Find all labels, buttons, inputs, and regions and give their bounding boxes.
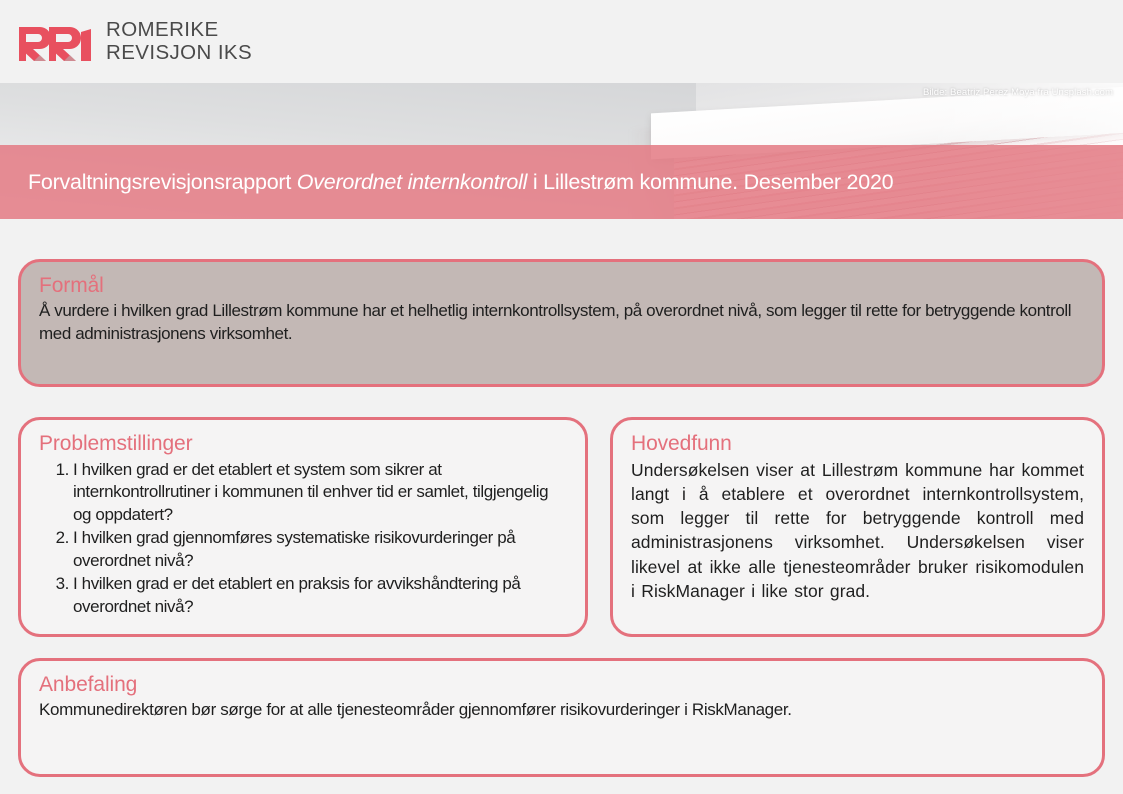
- report-title-band: Forvaltningsrevisjonsrapport Overordnet …: [0, 145, 1123, 219]
- card-problemstillinger-heading: Problemstillinger: [39, 432, 567, 456]
- list-item: I hvilken grad er det etablert et system…: [39, 459, 567, 526]
- card-hovedfunn-heading: Hovedfunn: [631, 432, 1084, 456]
- card-formaal-body: Å vurdere i hvilken grad Lillestrøm komm…: [39, 300, 1084, 345]
- logo-line-1: ROMERIKE: [106, 19, 252, 42]
- logo-wordmark: ROMERIKE REVISJON IKS: [106, 19, 252, 65]
- report-title-suffix: i Lillestrøm kommune. Desember 2020: [527, 170, 893, 194]
- card-formaal-heading: Formål: [39, 274, 1084, 298]
- card-hovedfunn: Hovedfunn Undersøkelsen viser at Lillest…: [610, 417, 1105, 637]
- report-title-emphasis: Overordnet internkontroll: [297, 170, 527, 194]
- list-item: I hvilken grad gjennomføres systematiske…: [39, 527, 567, 572]
- logo-line-2: REVISJON IKS: [106, 42, 252, 65]
- card-hovedfunn-body: Undersøkelsen viser at Lillestrøm kommun…: [631, 458, 1084, 603]
- card-formaal: Formål Å vurdere i hvilken grad Lillestr…: [18, 259, 1105, 387]
- report-title: Forvaltningsrevisjonsrapport Overordnet …: [28, 170, 893, 195]
- report-title-prefix: Forvaltningsrevisjonsrapport: [28, 170, 297, 194]
- card-anbefaling-heading: Anbefaling: [39, 673, 1084, 697]
- photo-credit-text: Bilde: Beatriz Perez Moya fra Unsplash.c…: [923, 87, 1113, 98]
- card-anbefaling-body: Kommunedirektøren bør sørge for at alle …: [39, 699, 1084, 722]
- card-anbefaling: Anbefaling Kommunedirektøren bør sørge f…: [18, 658, 1105, 777]
- card-problemstillinger: Problemstillinger I hvilken grad er det …: [18, 417, 588, 637]
- logo-lockup: ROMERIKE REVISJON IKS: [18, 19, 252, 65]
- rri-logo-mark-icon: [18, 22, 94, 62]
- header-bar: ROMERIKE REVISJON IKS: [0, 0, 1123, 83]
- problemstillinger-list: I hvilken grad er det etablert et system…: [39, 459, 567, 618]
- list-item: I hvilken grad er det etablert en praksi…: [39, 573, 567, 618]
